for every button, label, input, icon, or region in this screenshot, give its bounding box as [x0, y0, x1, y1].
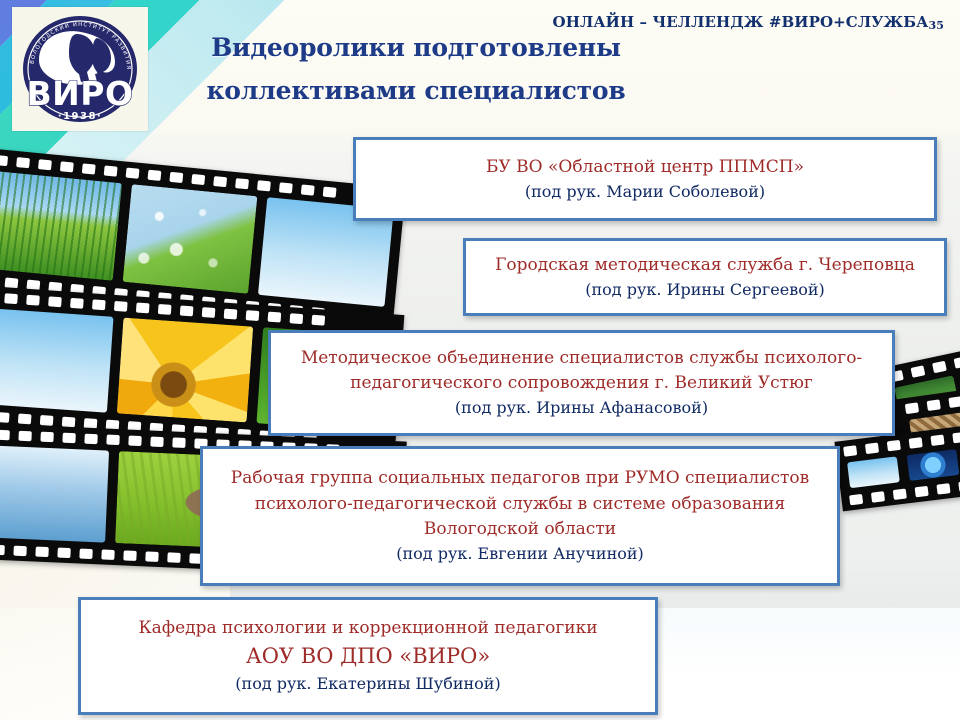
organization-card-metodicheskoe-obedinenie-velikiy-ustyug: Методическое объединение специалистов сл… [268, 330, 895, 436]
organization-leader: (под рук. Ирины Сергеевой) [480, 278, 930, 302]
page-title-line-1: Видеоролики подготовлены [211, 33, 621, 62]
organization-name-line-2: психолого-педагогической службы в систем… [217, 492, 823, 517]
viro-logo: ВОЛОГОДСКИЙ ИНСТИТУТ РАЗВИТИЯ ОБРАЗОВАНИ… [12, 7, 148, 131]
organization-card-rabochaya-gruppa-socialnyh-pedagogov: Рабочая группа социальных педагогов при … [200, 446, 840, 586]
film-frame-droplets [122, 184, 257, 294]
organization-card-kafedra-psihologii-viro: Кафедра психологии и коррекционной педаг… [78, 597, 658, 715]
organization-leader: (под рук. Екатерины Шубиной) [95, 672, 641, 696]
film-frame-sky [0, 308, 114, 413]
film-frame-grass [0, 171, 122, 281]
organization-leader: (под рук. Ирины Афанасовой) [285, 396, 878, 420]
film-frame-sky [847, 456, 900, 488]
organization-name-line-2: педагогического сопровождения г. Великий… [285, 371, 878, 396]
organization-name-line-1: Методическое объединение специалистов сл… [285, 346, 878, 371]
viro-logo-emblem: ВОЛОГОДСКИЙ ИНСТИТУТ РАЗВИТИЯ ОБРАЗОВАНИ… [17, 12, 143, 126]
logo-year: ·1938· [58, 111, 102, 122]
page-title: Видеоролики подготовлены коллективами сп… [196, 26, 636, 112]
organization-card-gorodskaya-metodicheskaya-sluzhba-cherepovec: Городская методическая служба г. Черепов… [463, 238, 947, 316]
organization-leader: (под рук. Евгении Анучиной) [217, 542, 823, 566]
organization-card-oblastnoy-centr-ppmsp: БУ ВО «Областной центр ППМСП» (под рук. … [353, 137, 937, 221]
organization-name-line-1: Кафедра психологии и коррекционной педаг… [95, 616, 641, 641]
organization-name-line-3: Вологодской области [217, 517, 823, 542]
logo-wordmark: ВИРО [26, 74, 133, 113]
film-frame-sunflower [117, 318, 253, 423]
presentation-slide: ВОЛОГОДСКИЙ ИНСТИТУТ РАЗВИТИЯ ОБРАЗОВАНИ… [0, 0, 960, 720]
challenge-hashtag-number: 35 [928, 19, 944, 32]
film-frame-water [0, 445, 109, 543]
page-title-line-2: коллективами специалистов [196, 69, 636, 112]
organization-name: Городская методическая служба г. Черепов… [480, 253, 930, 278]
challenge-hashtag: ОНЛАЙН – ЧЕЛЛЕНДЖ #ВИРО+СЛУЖБА35 [553, 13, 944, 31]
challenge-hashtag-text: ОНЛАЙН – ЧЕЛЛЕНДЖ #ВИРО+СЛУЖБА [553, 13, 929, 31]
film-frame-globe [907, 449, 960, 481]
organization-leader: (под рук. Марии Соболевой) [370, 180, 920, 204]
organization-name: БУ ВО «Областной центр ППМСП» [370, 155, 920, 180]
organization-name-line-1: Рабочая группа социальных педагогов при … [217, 466, 823, 491]
organization-name-line-2: АОУ ВО ДПО «ВИРО» [95, 641, 641, 672]
